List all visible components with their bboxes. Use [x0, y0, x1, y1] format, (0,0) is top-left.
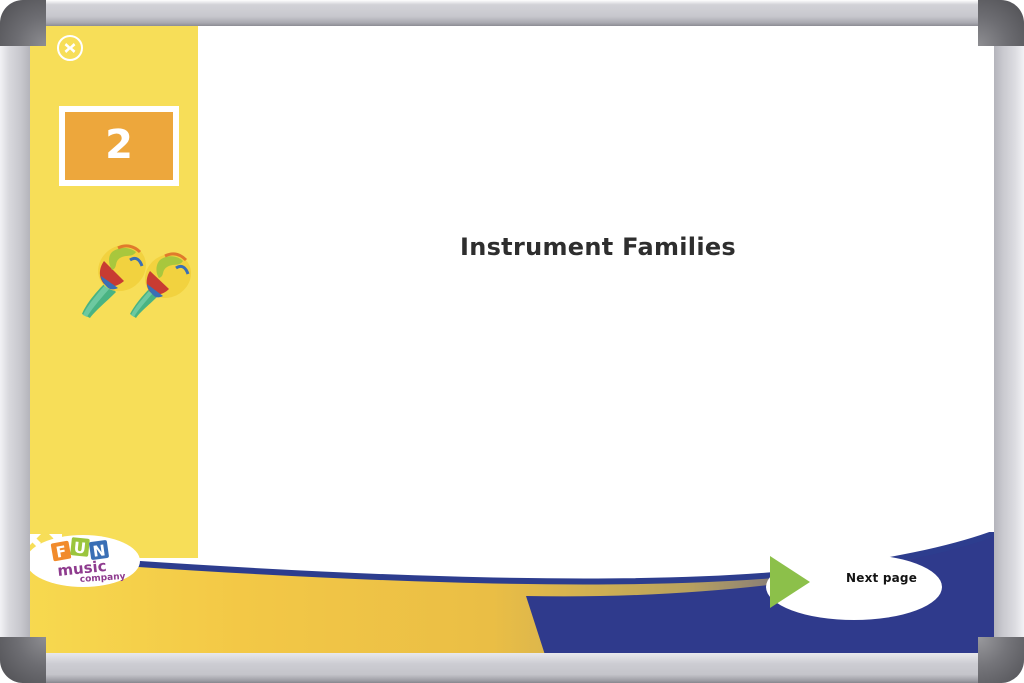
page-number-label: 2	[105, 125, 133, 165]
slide-canvas: Instrument Families 2	[26, 24, 998, 658]
maracas-icon	[70, 230, 198, 320]
frame-corner-top-left	[0, 0, 46, 46]
play-triangle-icon	[766, 554, 814, 610]
fun-music-company-logo: F U N music company	[26, 532, 140, 590]
logo-word-company: company	[80, 572, 126, 585]
frame-left-bar	[0, 22, 30, 661]
svg-text:U: U	[73, 538, 87, 557]
logo-block-u: U	[70, 537, 90, 557]
page-title: Instrument Families	[198, 233, 998, 261]
close-button[interactable]	[57, 35, 83, 61]
frame-right-bar	[994, 22, 1024, 661]
frame-corner-bottom-right	[978, 637, 1024, 683]
sidebar: 2	[26, 24, 198, 558]
logo-block-f: F	[51, 541, 72, 562]
page-number-card: 2	[59, 106, 179, 186]
slide-content-area: Instrument Families	[198, 24, 998, 558]
frame-corner-top-right	[978, 0, 1024, 46]
close-x-icon	[63, 41, 77, 55]
whiteboard-frame: Instrument Families 2	[0, 0, 1024, 683]
frame-bottom-bar	[22, 653, 1002, 683]
next-page-button[interactable]: Next page	[766, 554, 942, 620]
frame-top-bar	[22, 0, 1002, 26]
next-page-label: Next page	[846, 571, 917, 585]
footer-band: Next page F	[26, 532, 998, 658]
frame-corner-bottom-left	[0, 637, 46, 683]
